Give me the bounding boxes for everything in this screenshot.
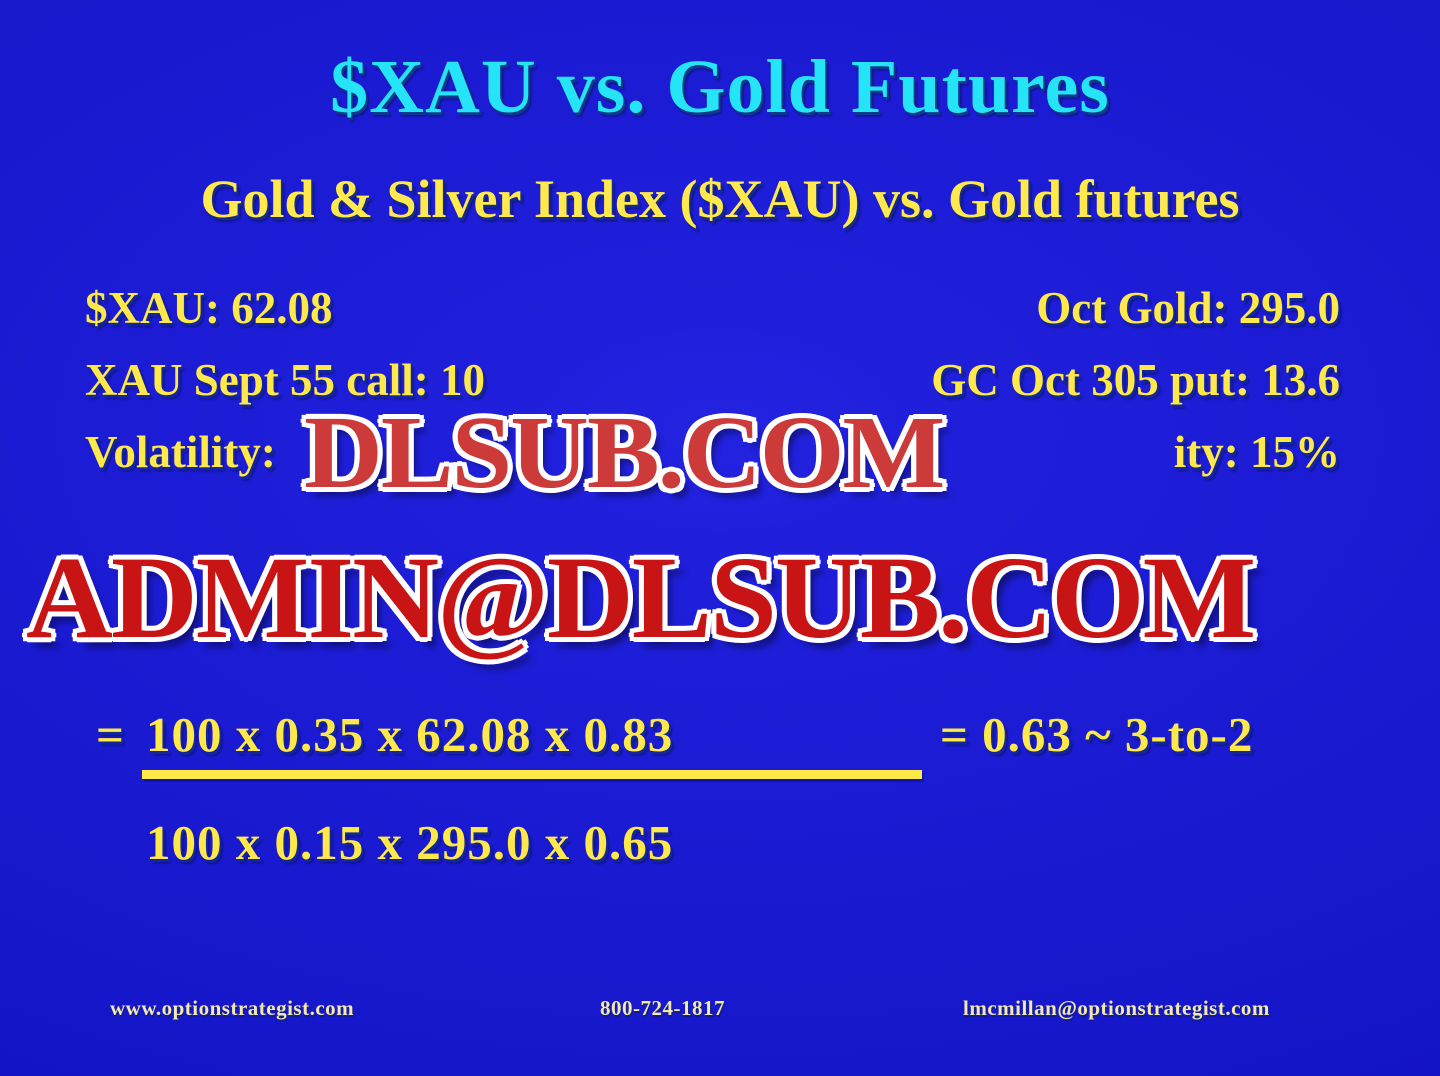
formula-line: = 100 x 0.35 x 62.08 x 0.83 = 0.63 ~ 3-t… <box>0 706 1440 784</box>
page-title: $XAU vs. Gold Futures <box>0 44 1440 131</box>
data-row: XAU Sept 55 call: 10 GC Oct 305 put: 13.… <box>0 354 1440 426</box>
xau-call-value: XAU Sept 55 call: 10 <box>85 354 485 406</box>
slide-canvas: $XAU vs. Gold Futures Gold & Silver Inde… <box>0 0 1440 1076</box>
footer-phone: 800-724-1817 <box>600 996 725 1021</box>
slide-footer: www.optionstrategist.com 800-724-1817 lm… <box>0 996 1440 1030</box>
formula-numerator: 100 x 0.35 x 62.08 x 0.83 <box>146 706 673 763</box>
quote-data-block: $XAU: 62.08 Oct Gold: 295.0 XAU Sept 55 … <box>0 282 1440 498</box>
xau-volatility-label: Volatility: <box>85 426 276 478</box>
footer-website[interactable]: www.optionstrategist.com <box>110 996 354 1021</box>
ratio-formula: = 100 x 0.35 x 62.08 x 0.83 = 0.63 ~ 3-t… <box>0 706 1440 784</box>
formula-leading-equals: = <box>96 706 125 763</box>
oct-gold-value: Oct Gold: 295.0 <box>1036 282 1340 334</box>
formula-denominator: 100 x 0.15 x 295.0 x 0.65 <box>146 814 673 871</box>
fraction-bar <box>142 770 922 779</box>
footer-email[interactable]: lmcmillan@optionstrategist.com <box>963 996 1270 1021</box>
formula-result: = 0.63 ~ 3-to-2 <box>940 706 1253 763</box>
gc-put-value: GC Oct 305 put: 13.6 <box>931 354 1340 406</box>
data-row: $XAU: 62.08 Oct Gold: 295.0 <box>0 282 1440 354</box>
watermark-email: ADMIN@DLSUB.COM <box>26 530 1254 666</box>
xau-index-value: $XAU: 62.08 <box>85 282 332 334</box>
data-row: Volatility: ity: 15% <box>0 426 1440 498</box>
gold-volatility-value: ity: 15% <box>1174 426 1340 478</box>
page-subtitle: Gold & Silver Index ($XAU) vs. Gold futu… <box>0 168 1440 230</box>
